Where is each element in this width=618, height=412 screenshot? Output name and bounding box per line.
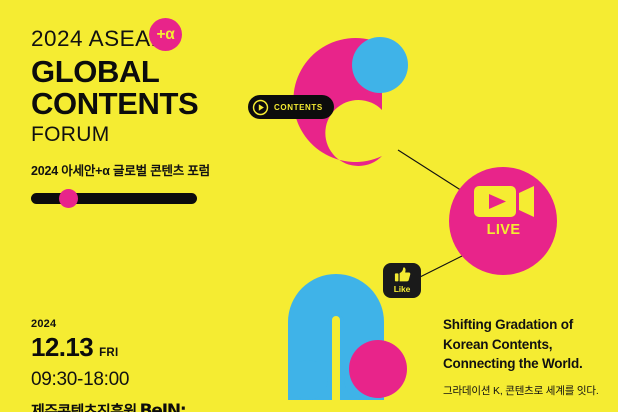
page-title-forum: FORUM [31, 123, 241, 147]
page-title-line-1: 2024 ASEAN +α [31, 28, 241, 51]
page-title-contents: CONTENTS [31, 87, 241, 121]
slider-thumb[interactable] [59, 189, 78, 208]
tagline-korean: 그라데이션 K, 콘텐츠로 세계를 잇다. [443, 383, 613, 398]
venue-logo: BeIN; [140, 401, 186, 412]
tagline-en-line-2: Korean Contents, [443, 335, 613, 355]
title-text-asean: 2024 ASEAN [31, 26, 167, 51]
like-badge[interactable]: Like [383, 263, 421, 298]
blue-letter-n-left-foot [288, 360, 328, 400]
event-year: 2024 [31, 318, 261, 330]
play-circle-icon [252, 99, 269, 116]
contents-badge-label: CONTENTS [274, 103, 323, 112]
poster-canvas: 2024 ASEAN +α GLOBAL CONTENTS FORUM 2024… [0, 0, 618, 412]
pink-live-circle [449, 167, 557, 275]
subtitle-korean: 2024 아세안+α 글로벌 콘텐츠 포럼 [31, 160, 241, 179]
tagline-en-line-1: Shifting Gradation of [443, 315, 613, 335]
blue-circle-accent [352, 37, 408, 93]
title-block: 2024 ASEAN +α GLOBAL CONTENTS FORUM 2024… [31, 28, 241, 204]
slider-track [31, 193, 197, 204]
thumbs-up-icon [394, 267, 411, 283]
event-venue-row: 제주콘텐츠진흥원 BeIN; [31, 400, 261, 412]
event-schedule-block: 2024 12.13 FRI 09:30-18:00 제주콘텐츠진흥원 BeIN… [31, 318, 261, 412]
connector-line-c-to-live [398, 150, 470, 196]
event-date: 12.13 [31, 332, 93, 363]
tagline-en-line-3: Connecting the World. [443, 354, 613, 374]
live-badge-label: LIVE [466, 222, 541, 238]
plus-alpha-badge: +α [149, 18, 182, 51]
like-badge-label: Like [394, 284, 411, 294]
event-date-row: 12.13 FRI [31, 332, 261, 363]
contents-badge[interactable]: CONTENTS [248, 95, 334, 119]
tagline-block: Shifting Gradation of Korean Contents, C… [443, 315, 613, 398]
page-title-global: GLOBAL [31, 55, 241, 89]
event-weekday: FRI [99, 347, 118, 359]
pink-circle-accent [349, 340, 407, 398]
event-time: 09:30-18:00 [31, 369, 261, 391]
decorative-slider[interactable] [31, 193, 197, 204]
video-camera-icon [474, 186, 534, 217]
event-venue-name: 제주콘텐츠진흥원 [31, 400, 137, 412]
